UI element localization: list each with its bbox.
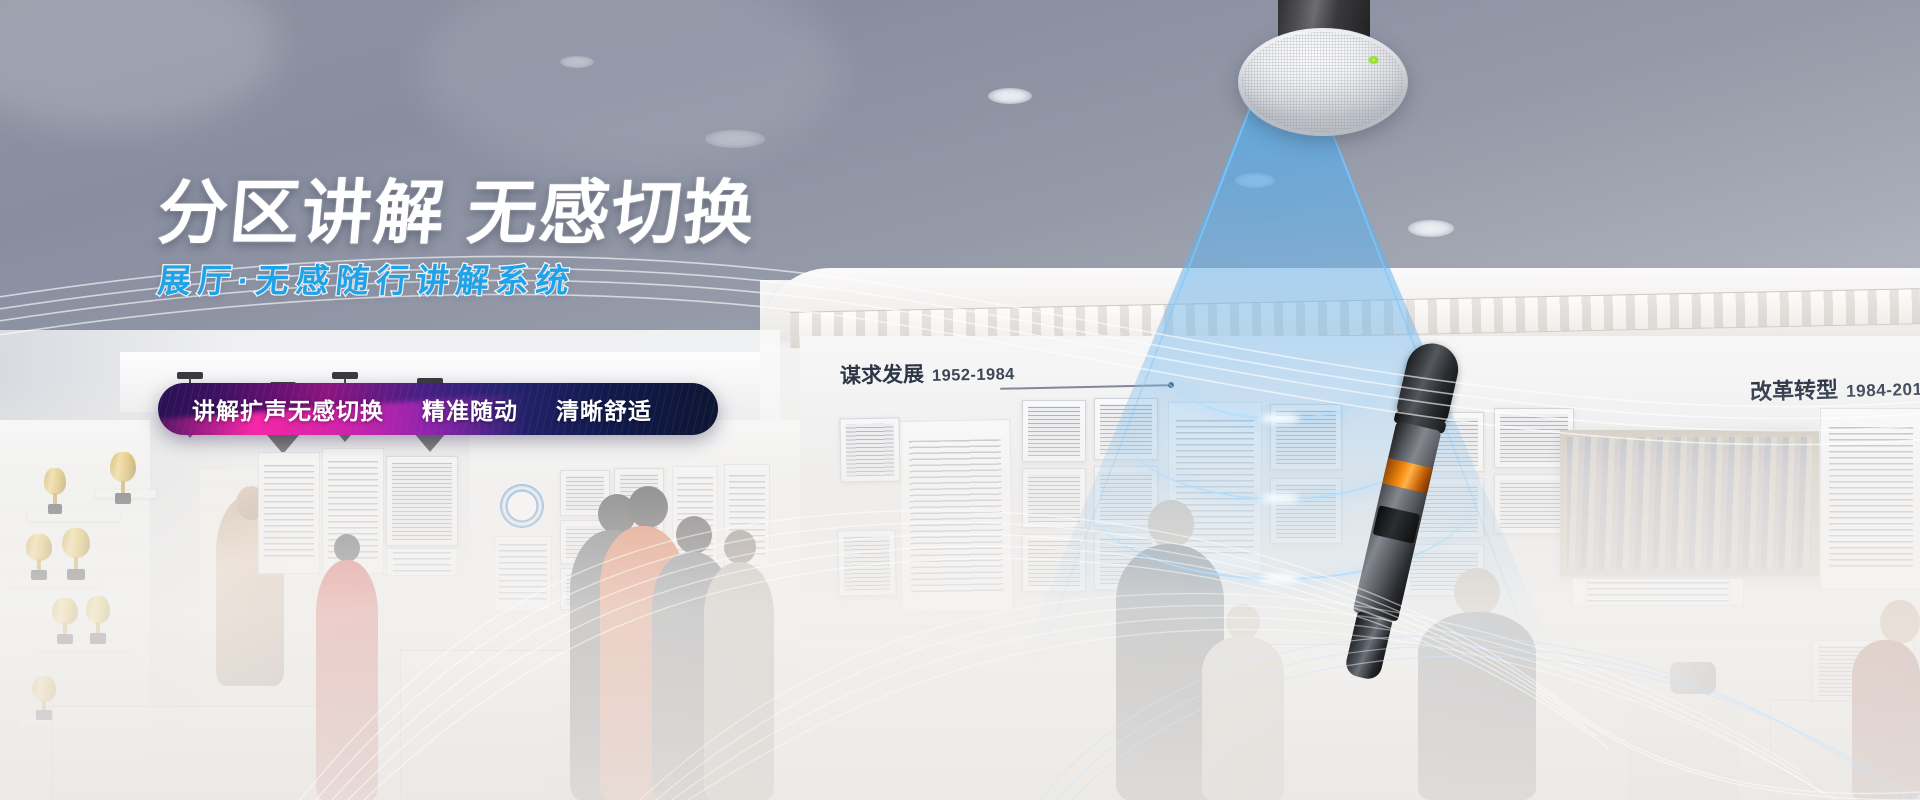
feature-pill-bar: 讲解扩声无感切换 精准随动 清晰舒适	[158, 383, 718, 435]
microphone-tail	[1344, 611, 1393, 681]
downlight-5	[560, 56, 594, 68]
downlight-3	[1408, 220, 1454, 237]
speaker-grille	[1238, 28, 1408, 136]
page-title: 分区讲解 无感切换	[155, 178, 921, 248]
feature-item-2: 精准随动	[422, 392, 518, 426]
copy-block: 分区讲解 无感切换 展厅·无感随行讲解系统 讲解扩声无感切换 精准随动 清晰舒适	[158, 178, 918, 297]
floor-wash	[0, 380, 1920, 800]
feature-item-3: 清晰舒适	[556, 392, 652, 426]
speaker-status-led	[1368, 56, 1379, 64]
speaker-mesh-texture	[1242, 32, 1404, 132]
ceiling-speaker-icon	[1238, 0, 1408, 146]
page-subtitle: 展厅·无感随行讲解系统	[156, 264, 919, 297]
downlight-4	[705, 130, 765, 148]
downlight-1	[988, 88, 1032, 104]
promo-banner: 谋求发展1952-1984 改革转型1984-2010	[0, 0, 1920, 800]
feature-item-1: 讲解扩声无感切换	[192, 392, 384, 426]
